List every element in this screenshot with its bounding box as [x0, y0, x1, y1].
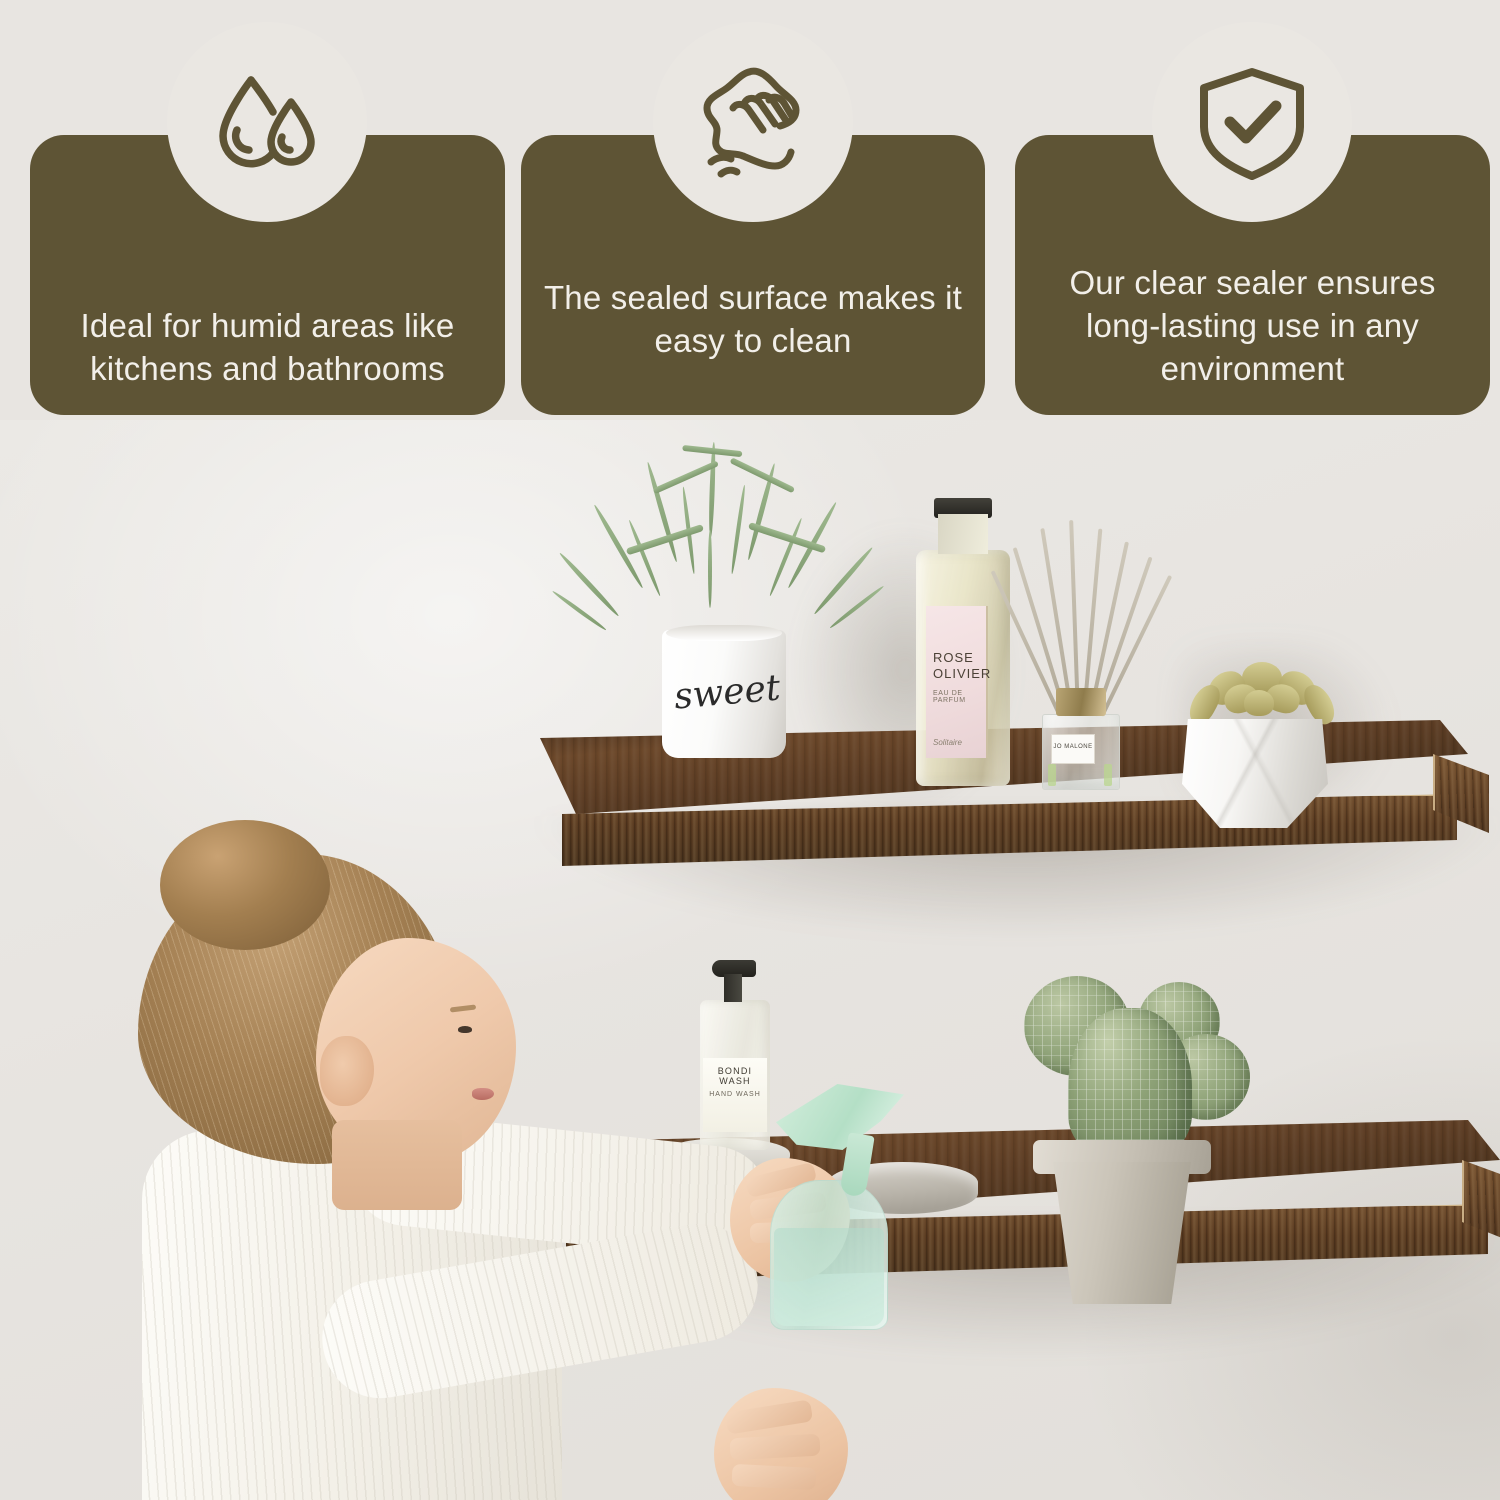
bottle-neck	[938, 514, 988, 554]
diffuser-label: JO MALONE	[1051, 734, 1095, 764]
cactus-plant	[1020, 968, 1250, 1168]
concrete-cactus-pot	[1040, 1162, 1204, 1304]
reed-diffuser: JO MALONE	[1024, 710, 1174, 790]
shelf-end-grain	[1462, 1152, 1500, 1274]
feature-card-text: Ideal for humid areas like kitchens and …	[30, 305, 505, 391]
bottle-label: ROSE OLIVIER EAU DE PARFUM Solitaire	[926, 606, 988, 758]
pot-script-text: sweet	[672, 667, 782, 717]
feature-card-text: Our clear sealer ensures long-lasting us…	[1015, 262, 1490, 391]
product-photo-scene: sweet ROSE OLIVIER EAU DE PARFUM Solitai…	[0, 420, 1500, 1500]
diffuser-collar	[1056, 688, 1106, 716]
child-figure	[20, 800, 840, 1500]
finger	[729, 1434, 820, 1461]
spray-liquid	[774, 1228, 884, 1326]
bottle-label-line3: EAU DE PARFUM	[933, 690, 986, 704]
feature-bar: Ideal for humid areas like kitchens and …	[0, 0, 1500, 420]
hand-wiping-cloth-icon	[653, 22, 853, 222]
geometric-white-planter	[1182, 712, 1328, 828]
shelf-end-grain	[1433, 747, 1489, 859]
hair-bun	[160, 820, 330, 950]
shield-check-icon	[1152, 22, 1352, 222]
bottle-label-line1: ROSE	[933, 650, 974, 665]
white-pot-with-script: sweet	[662, 630, 786, 758]
mint-green-spray-bottle	[770, 1180, 888, 1330]
bottle-label-line4: Solitaire	[933, 738, 962, 747]
diffuser-reeds	[1024, 516, 1174, 716]
water-droplets-icon	[167, 22, 367, 222]
feature-card-text: The sealed surface makes it easy to clea…	[521, 277, 985, 363]
potted-greenery-foliage	[596, 438, 848, 648]
finger	[731, 1464, 816, 1490]
bottle-label-line2: OLIVIER	[933, 666, 991, 681]
neck	[332, 1120, 462, 1210]
eye	[458, 1026, 472, 1033]
